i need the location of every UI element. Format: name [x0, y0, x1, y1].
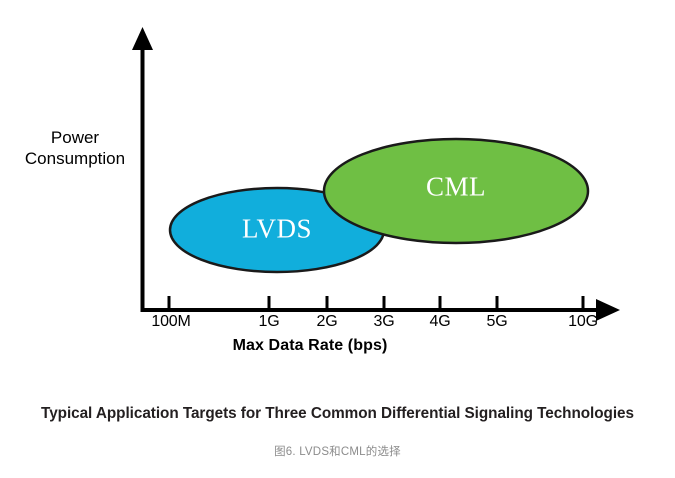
x-axis-title: Max Data Rate (bps) [0, 337, 620, 355]
figure-caption-main: Typical Application Targets for Three Co… [0, 405, 675, 423]
x-axis-tick-label-10g: 10G [568, 313, 598, 331]
y-axis-arrowhead-icon [132, 27, 153, 50]
x-axis-ticks [169, 296, 583, 310]
x-axis-tick-label-3g: 3G [374, 313, 395, 331]
x-axis-tick-label-100m: 100M [151, 313, 190, 331]
region-label-cml: CML [426, 172, 486, 203]
chart-plot-area: LVDS CML 100M 1G 2G 3G 4G 5G 10G Max Dat… [0, 0, 675, 400]
x-axis-arrowhead-icon [596, 299, 620, 321]
x-axis-tick-label-2g: 2G [317, 313, 338, 331]
y-axis-title: Power Consumption [14, 128, 136, 169]
x-axis-tick-label-4g: 4G [430, 313, 451, 331]
x-axis-tick-label-1g: 1G [259, 313, 280, 331]
x-axis-tick-label-5g: 5G [487, 313, 508, 331]
figure-caption-sub: 图6. LVDS和CML的选择 [0, 443, 675, 459]
region-label-lvds: LVDS [242, 214, 312, 245]
figure-root: LVDS CML 100M 1G 2G 3G 4G 5G 10G Max Dat… [0, 0, 675, 478]
